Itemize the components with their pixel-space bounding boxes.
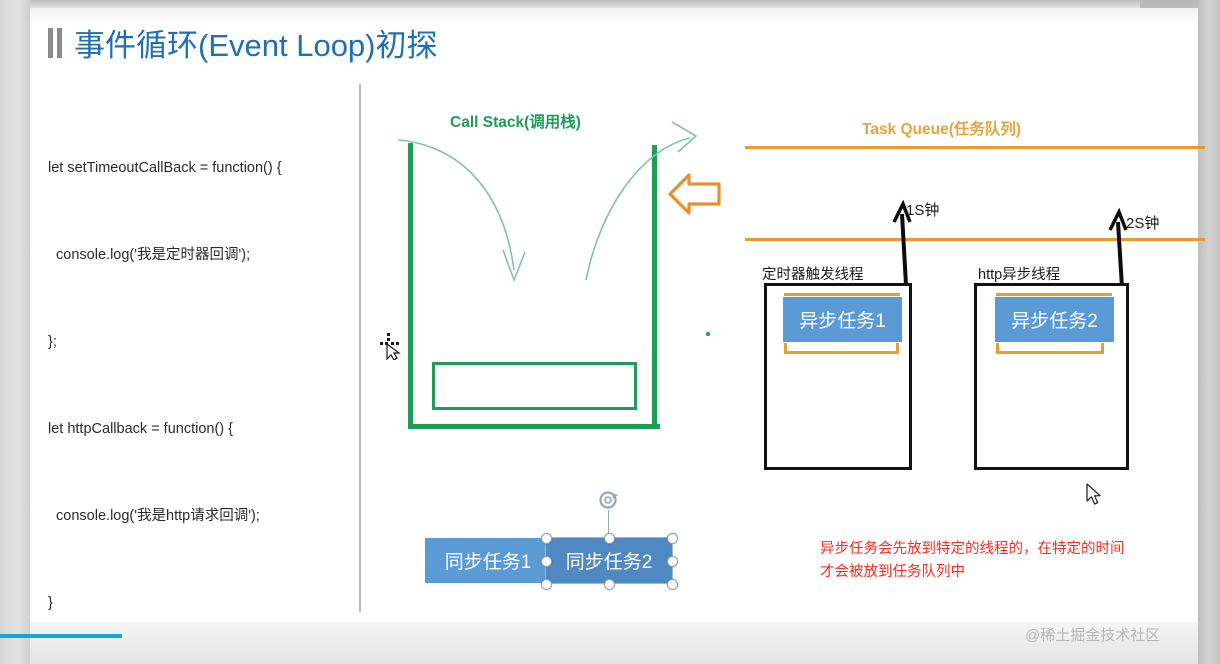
watermark-text: @稀土掘金技术社区 bbox=[1025, 624, 1160, 645]
video-progress-track[interactable] bbox=[0, 634, 1198, 638]
window-frame-left bbox=[0, 0, 30, 664]
code-line: }; bbox=[48, 328, 348, 357]
call-stack-frame-slot bbox=[432, 362, 637, 410]
code-line: console.log('我是定时器回调'); bbox=[48, 241, 348, 270]
async-task-1-shape: 异步任务1 bbox=[783, 297, 902, 342]
red-annotation-text: 异步任务会先放到特定的线程的，在特定的时间 才会被放到任务队列中 bbox=[820, 538, 1125, 584]
flow-arrow-left-icon bbox=[667, 172, 721, 216]
page-title-text: 事件循环(Event Loop)初探 bbox=[74, 20, 438, 65]
thread-label-http: http异步线程 bbox=[978, 263, 1060, 284]
call-stack-floor bbox=[408, 424, 660, 429]
sync-task-1-shape[interactable]: 同步任务1 bbox=[425, 538, 551, 583]
code-listing: let setTimeoutCallBack = function() { co… bbox=[48, 96, 348, 664]
call-stack-right-wall bbox=[652, 145, 657, 428]
thread-label-timer: 定时器触发线程 bbox=[762, 263, 864, 284]
async-task-1-bracket bbox=[784, 343, 899, 354]
resize-handle-ml[interactable] bbox=[541, 556, 552, 567]
call-stack-left-wall bbox=[408, 143, 413, 428]
resize-handle-br[interactable] bbox=[667, 579, 678, 590]
double-bar-icon bbox=[48, 28, 62, 58]
call-stack-label: Call Stack(调用栈) bbox=[450, 110, 581, 132]
resize-handle-bl[interactable] bbox=[541, 579, 552, 590]
code-line: } bbox=[48, 589, 348, 618]
async-task-2-top-rule bbox=[996, 293, 1112, 296]
screenshot-root: 事件循环(Event Loop)初探 let setTimeoutCallBac… bbox=[0, 0, 1220, 664]
async-task-2-bracket bbox=[996, 343, 1104, 354]
code-line: let setTimeoutCallBack = function() { bbox=[48, 154, 348, 183]
resize-handle-tl[interactable] bbox=[541, 533, 552, 544]
code-line: console.log('我是http请求回调'); bbox=[48, 502, 348, 531]
mouse-pointer-icon bbox=[1086, 483, 1102, 507]
resize-handle-tr[interactable] bbox=[667, 533, 678, 544]
task-queue-line-top bbox=[745, 146, 1205, 149]
move-cursor-icon bbox=[378, 332, 404, 360]
async-task-1-top-rule bbox=[784, 293, 900, 296]
rotate-handle-icon[interactable] bbox=[597, 489, 619, 511]
resize-handle-bc[interactable] bbox=[604, 579, 615, 590]
vertical-divider bbox=[359, 84, 361, 612]
window-frame-right bbox=[1198, 0, 1220, 664]
task-queue-label: Task Queue(任务队列) bbox=[862, 117, 1021, 139]
code-line: let httpCallback = function() { bbox=[48, 415, 348, 444]
resize-handle-tc[interactable] bbox=[604, 533, 615, 544]
call-stack-dot-mark bbox=[706, 332, 710, 336]
async-task-2-shape: 异步任务2 bbox=[995, 297, 1114, 342]
video-progress-fill[interactable] bbox=[0, 634, 122, 638]
sync-task-2-shape[interactable]: 同步任务2 bbox=[546, 538, 672, 583]
page-title: 事件循环(Event Loop)初探 bbox=[48, 20, 438, 65]
resize-handle-mr[interactable] bbox=[667, 556, 678, 567]
